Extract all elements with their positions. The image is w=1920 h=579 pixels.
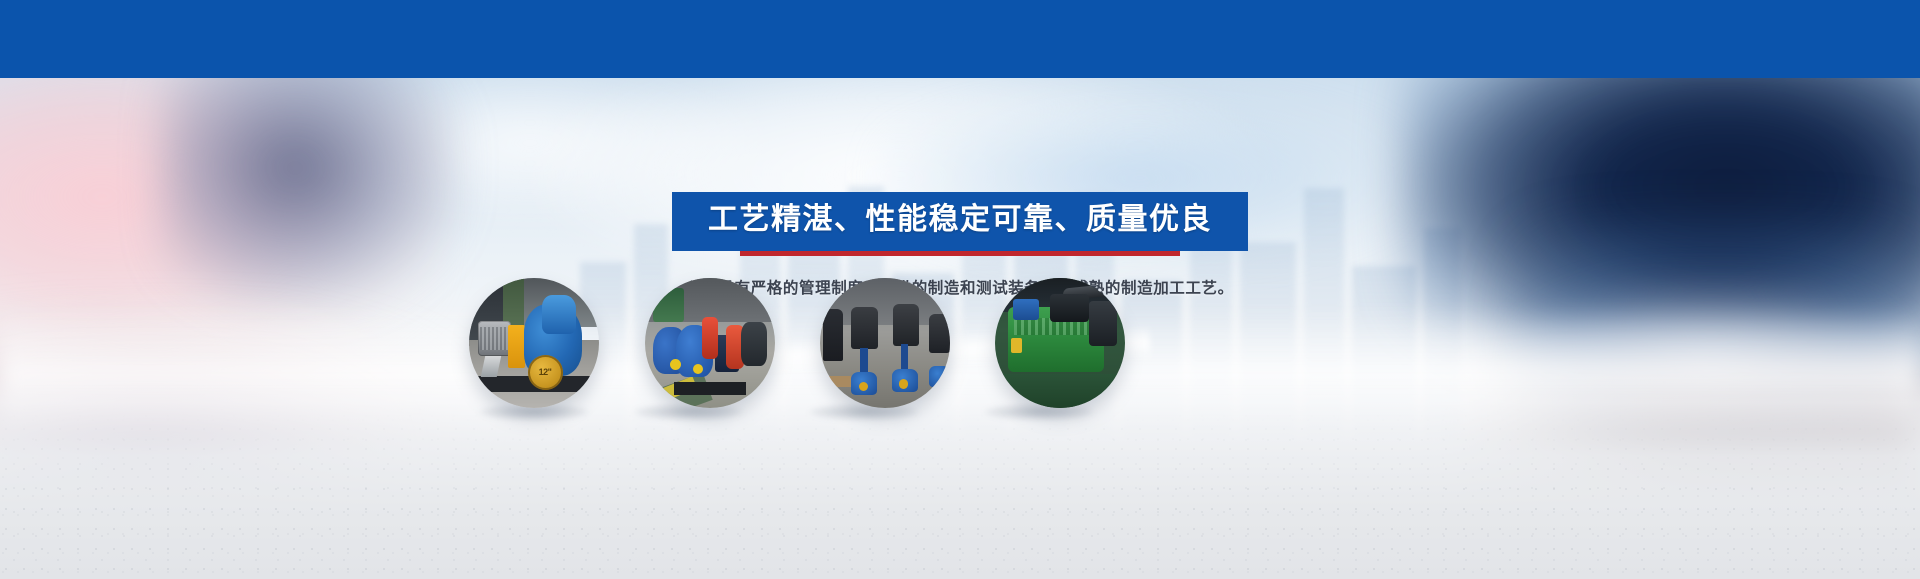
hero-banner: 工艺精湛、性能稳定可靠、质量优良 公司具有严格的管理制度，先进的制造和测试装备以… xyxy=(0,0,1920,579)
hero-title: 工艺精湛、性能稳定可靠、质量优良 xyxy=(708,203,1212,238)
product-photo-diesel-engine[interactable] xyxy=(995,278,1125,408)
hero-title-block: 工艺精湛、性能稳定可靠、质量优良 xyxy=(0,192,1920,256)
hero-title-underline xyxy=(740,251,1180,256)
product-circle-gallery: 12" xyxy=(0,278,1920,498)
product-photo-slurry-pump-row[interactable] xyxy=(645,278,775,408)
site-header-bar xyxy=(0,0,1920,78)
hero-title-box: 工艺精湛、性能稳定可靠、质量优良 xyxy=(672,192,1248,251)
product-photo-split-case-pump[interactable]: 12" xyxy=(469,278,599,408)
pump-size-label: 12" xyxy=(528,355,563,390)
pump-flange-badge: 12" xyxy=(528,355,563,390)
product-photo-vertical-inline-pumps[interactable] xyxy=(820,278,950,408)
hero-content: 工艺精湛、性能稳定可靠、质量优良 公司具有严格的管理制度，先进的制造和测试装备以… xyxy=(0,78,1920,579)
